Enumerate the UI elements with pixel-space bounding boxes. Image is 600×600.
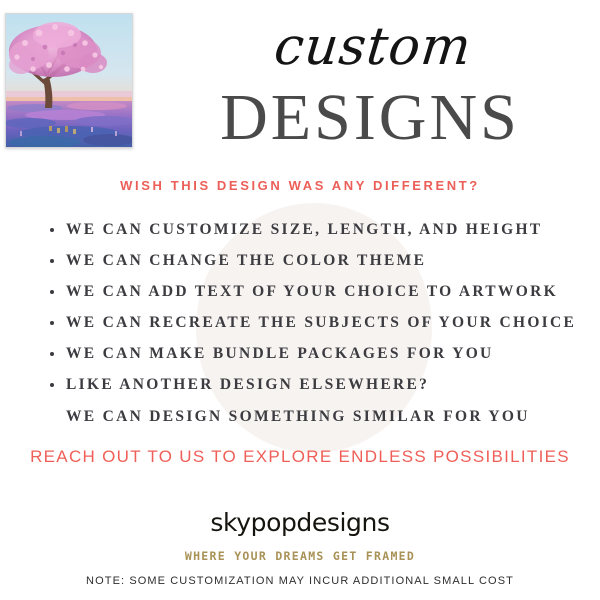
list-item: WE CAN CUSTOMIZE SIZE, LENGTH, AND HEIGH… [48,214,588,245]
call-to-action-text: REACH OUT TO US TO EXPLORE ENDLESS POSSI… [0,447,600,467]
list-item: WE CAN CHANGE THE COLOR THEME [48,245,588,276]
list-item-continuation: WE CAN DESIGN SOMETHING SIMILAR FOR YOU [48,400,588,433]
page-title-main: DESIGNS [140,85,600,151]
list-item: WE CAN ADD TEXT OF YOUR CHOICE TO ARTWOR… [48,276,588,307]
list-item: WE CAN MAKE BUNDLE PACKAGES FOR YOU [48,338,588,369]
promo-canvas: custom DESIGNS WISH THIS DESIGN WAS ANY … [0,0,600,600]
page-title-script: custom [137,20,600,75]
brand-tagline: WHERE YOUR DREAMS GET FRAMED [0,549,600,563]
cherry-blossom-painting-icon [5,13,133,148]
customization-options-list: WE CAN CUSTOMIZE SIZE, LENGTH, AND HEIGH… [48,214,588,433]
subtitle-question: WISH THIS DESIGN WAS ANY DIFFERENT? [0,178,600,193]
heading-block: custom DESIGNS [140,20,600,151]
artwork-thumbnail[interactable] [5,13,133,148]
footnote-disclaimer: NOTE: SOME CUSTOMIZATION MAY INCUR ADDIT… [0,575,600,587]
list-item: LIKE ANOTHER DESIGN ELSEWHERE? [48,369,588,400]
brand-name: skypopdesigns [0,508,600,537]
list-item: WE CAN RECREATE THE SUBJECTS OF YOUR CHO… [48,307,588,338]
